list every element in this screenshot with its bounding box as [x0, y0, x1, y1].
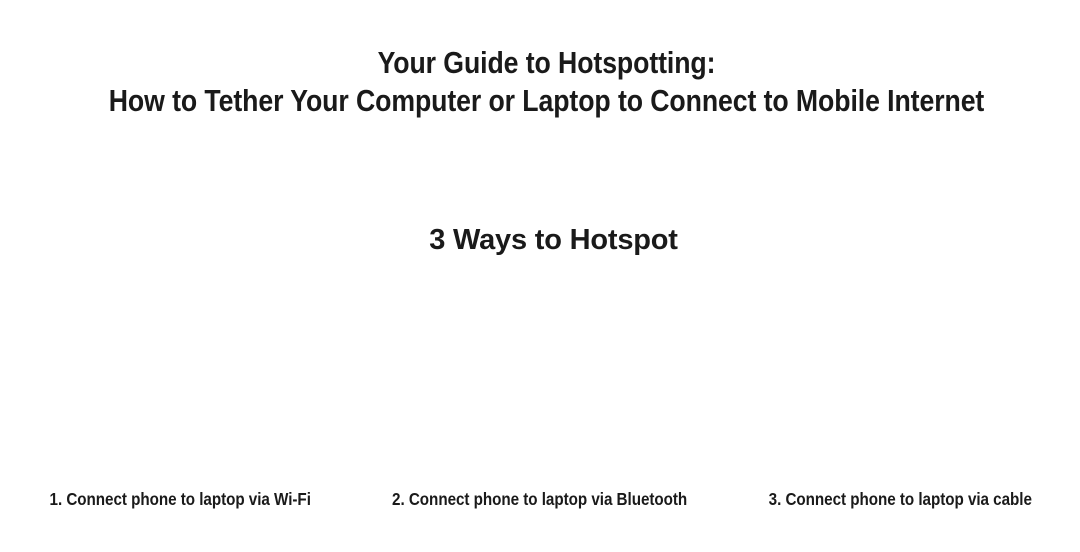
section-heading: 3 Ways to Hotspot: [0, 222, 1080, 258]
method-caption-bluetooth: 2. Connect phone to laptop via Bluetooth: [392, 488, 687, 510]
method-item-bluetooth: 2. Connect phone to laptop via Bluetooth: [360, 488, 720, 510]
method-illustrations: [0, 272, 1080, 478]
method-captions: 1. Connect phone to laptop via Wi-Fi 2. …: [0, 488, 1080, 510]
method-illustration-cable: [720, 272, 1080, 478]
page-title-line-2: How to Tether Your Computer or Laptop to…: [77, 82, 1017, 120]
page-title-line-1: Your Guide to Hotspotting:: [77, 44, 1017, 82]
method-illustration-bluetooth: [360, 272, 720, 478]
method-item-cable: 3. Connect phone to laptop via cable: [720, 488, 1080, 510]
method-illustration-wifi: [0, 272, 360, 478]
page-title: Your Guide to Hotspotting: How to Tether…: [0, 44, 1080, 120]
method-item-wifi: 1. Connect phone to laptop via Wi-Fi: [0, 488, 360, 510]
article-page: Your Guide to Hotspotting: How to Tether…: [0, 0, 1080, 552]
method-caption-cable: 3. Connect phone to laptop via cable: [768, 488, 1031, 510]
method-caption-wifi: 1. Connect phone to laptop via Wi-Fi: [49, 488, 310, 510]
